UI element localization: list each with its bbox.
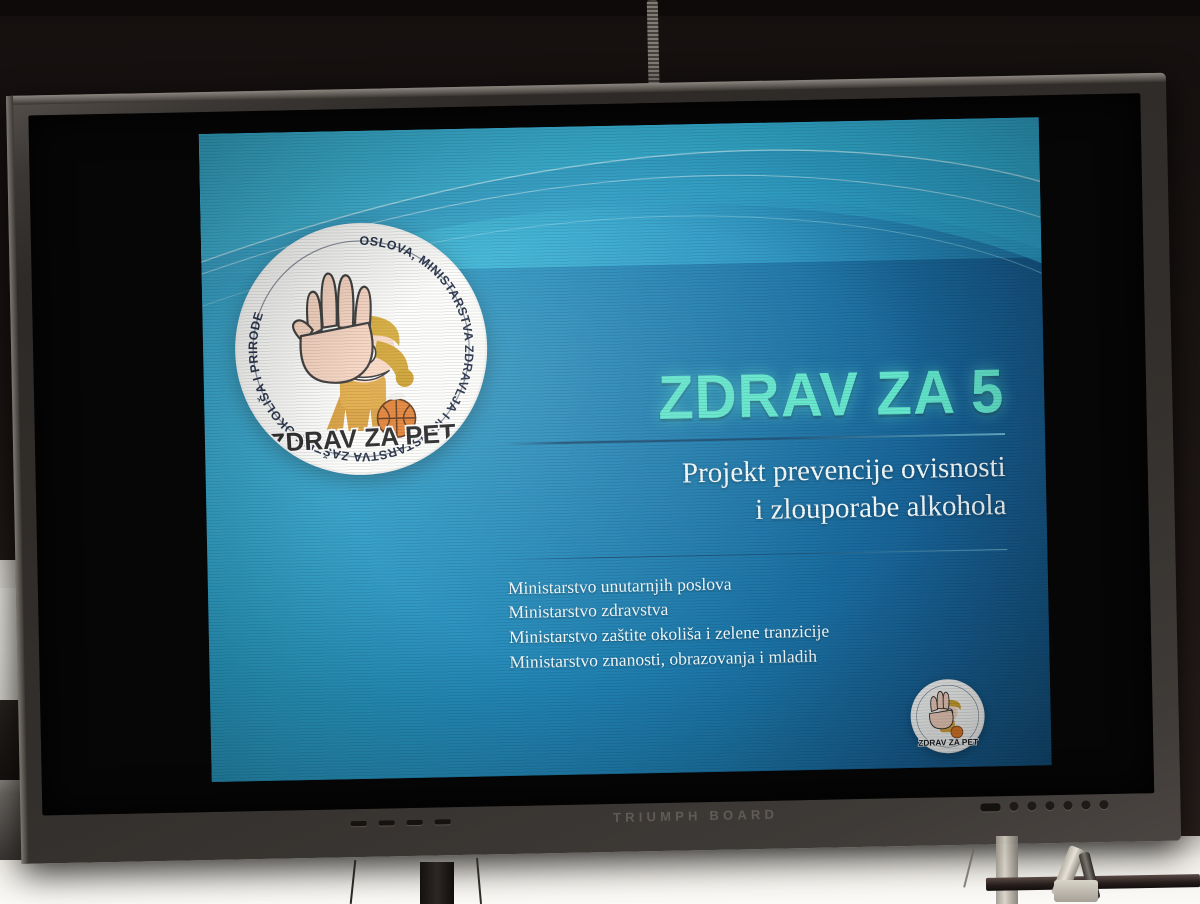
power-button[interactable] bbox=[1099, 800, 1108, 809]
photo-scene: PROJEKT MINISTARSTVA UNUTARNJIH POSLOVA,… bbox=[0, 0, 1200, 904]
interactive-display[interactable]: PROJEKT MINISTARSTVA UNUTARNJIH POSLOVA,… bbox=[6, 73, 1181, 864]
bezel-vent bbox=[351, 821, 367, 826]
control-button[interactable] bbox=[1081, 800, 1090, 809]
control-button[interactable] bbox=[1045, 801, 1054, 810]
display-brand-label: TRIUMPH BOARD bbox=[580, 806, 810, 833]
ceiling-strip bbox=[0, 0, 1200, 16]
mount-bracket-plate bbox=[1054, 880, 1098, 902]
presentation-slide[interactable]: PROJEKT MINISTARSTVA UNUTARNJIH POSLOVA,… bbox=[199, 117, 1052, 782]
control-button[interactable] bbox=[1027, 801, 1036, 810]
stand-pole bbox=[996, 836, 1018, 904]
bezel-vent bbox=[407, 820, 423, 825]
control-button[interactable] bbox=[1009, 802, 1018, 811]
display-stand-post bbox=[420, 862, 454, 904]
bezel-vent bbox=[379, 820, 395, 825]
ir-receiver-icon bbox=[980, 803, 1000, 811]
bezel-vent bbox=[435, 819, 451, 824]
control-button[interactable] bbox=[1063, 801, 1072, 810]
screen-vignette bbox=[199, 117, 1052, 782]
mount-arm bbox=[1050, 846, 1124, 904]
